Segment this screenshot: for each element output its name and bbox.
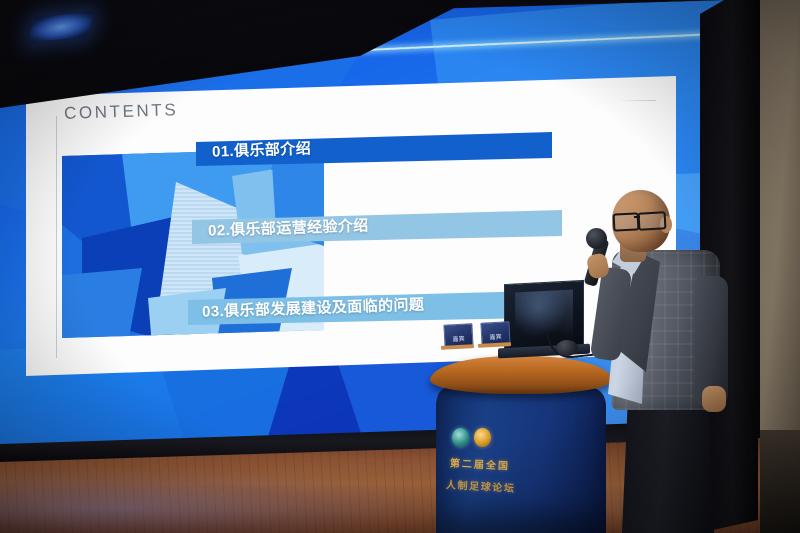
glasses-icon bbox=[638, 211, 667, 230]
podium-wooden-top bbox=[430, 356, 612, 394]
glasses-bridge-icon bbox=[634, 216, 640, 218]
speaker-right-arm bbox=[694, 276, 728, 404]
handheld-mic-head-icon bbox=[586, 228, 607, 249]
podium-emblem-left-icon bbox=[452, 428, 469, 447]
right-wall-panel bbox=[760, 0, 800, 430]
agenda-item-1-label: 01.俱乐部介绍 bbox=[212, 137, 312, 161]
speaker-legs bbox=[622, 396, 714, 533]
presentation-scene: CONTENTS 01.俱乐部介绍 02.俱乐部运营经验介绍 03.俱乐部发展建… bbox=[0, 0, 800, 533]
agenda-item-1[interactable]: 01.俱乐部介绍 bbox=[196, 132, 568, 166]
nameplate-2-label: 嘉宾 bbox=[482, 331, 509, 341]
slide-header-contents: CONTENTS bbox=[64, 100, 179, 124]
podium-emblem-right-icon bbox=[474, 428, 491, 447]
nameplate-1-label: 嘉宾 bbox=[445, 333, 472, 343]
podium-text-line-1: 第二届全国 bbox=[450, 454, 511, 472]
gooseneck-mic-head-icon bbox=[556, 340, 578, 356]
floor-reflection bbox=[0, 470, 430, 533]
speaker-right-hand bbox=[702, 386, 726, 412]
